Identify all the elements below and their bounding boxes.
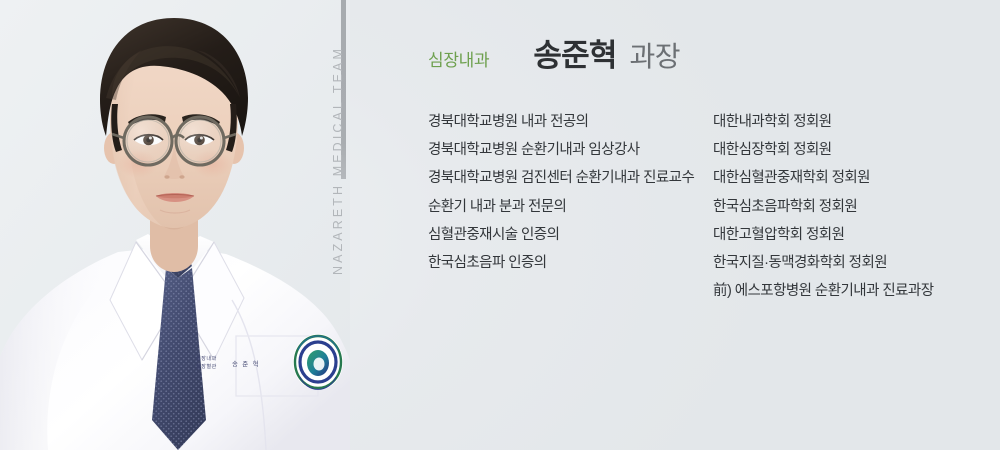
vertical-divider: NAZARETH MEDICAL TEAM [300,0,360,450]
doctor-position: 과장 [630,35,681,75]
svg-text:심장혈관: 심장혈관 [196,362,217,370]
credential-item: 심혈관중재시술 인증의 [428,221,718,249]
credentials-column-left: 경북대학교병원 내과 전공의 경북대학교병원 순환기내과 임상강사 경북대학교병… [428,108,718,277]
credential-item: 순환기 내과 분과 전문의 [428,193,718,221]
credential-item: 경북대학교병원 순환기내과 임상강사 [428,136,718,164]
credential-item: 경북대학교병원 검진센터 순환기내과 진료교수 [428,164,718,192]
credential-item: 대한심장학회 정회원 [713,136,973,164]
svg-text:심장내과: 심장내과 [196,354,217,362]
credential-item: 한국심초음파 인증의 [428,249,718,277]
vertical-brand-label: NAZARETH MEDICAL TEAM [331,75,345,275]
credential-item: 한국지질·동맥경화학회 정회원 [713,249,973,277]
credential-item: 대한심혈관중재학회 정회원 [713,164,973,192]
credential-item: 경북대학교병원 내과 전공의 [428,108,718,136]
credentials-column-right: 대한내과학회 정회원 대한심장학회 정회원 대한심혈관중재학회 정회원 한국심초… [713,108,973,305]
credential-item: 前) 에스포항병원 순환기내과 진료과장 [713,277,973,305]
doctor-profile-card: 심장내과 심장혈관 송 준 혁 [0,0,1000,450]
svg-text:송 준 혁: 송 준 혁 [232,360,260,368]
credential-item: 한국심초음파학회 정회원 [713,193,973,221]
credential-item: 대한내과학회 정회원 [713,108,973,136]
doctor-name: 송준혁 [533,30,616,75]
credential-item: 대한고혈압학회 정회원 [713,221,973,249]
doctor-heading: 심장내과 송준혁 과장 [428,30,680,75]
doctor-portrait-photo: 심장내과 심장혈관 송 준 혁 [0,0,350,450]
department-label: 심장내과 [428,46,489,71]
